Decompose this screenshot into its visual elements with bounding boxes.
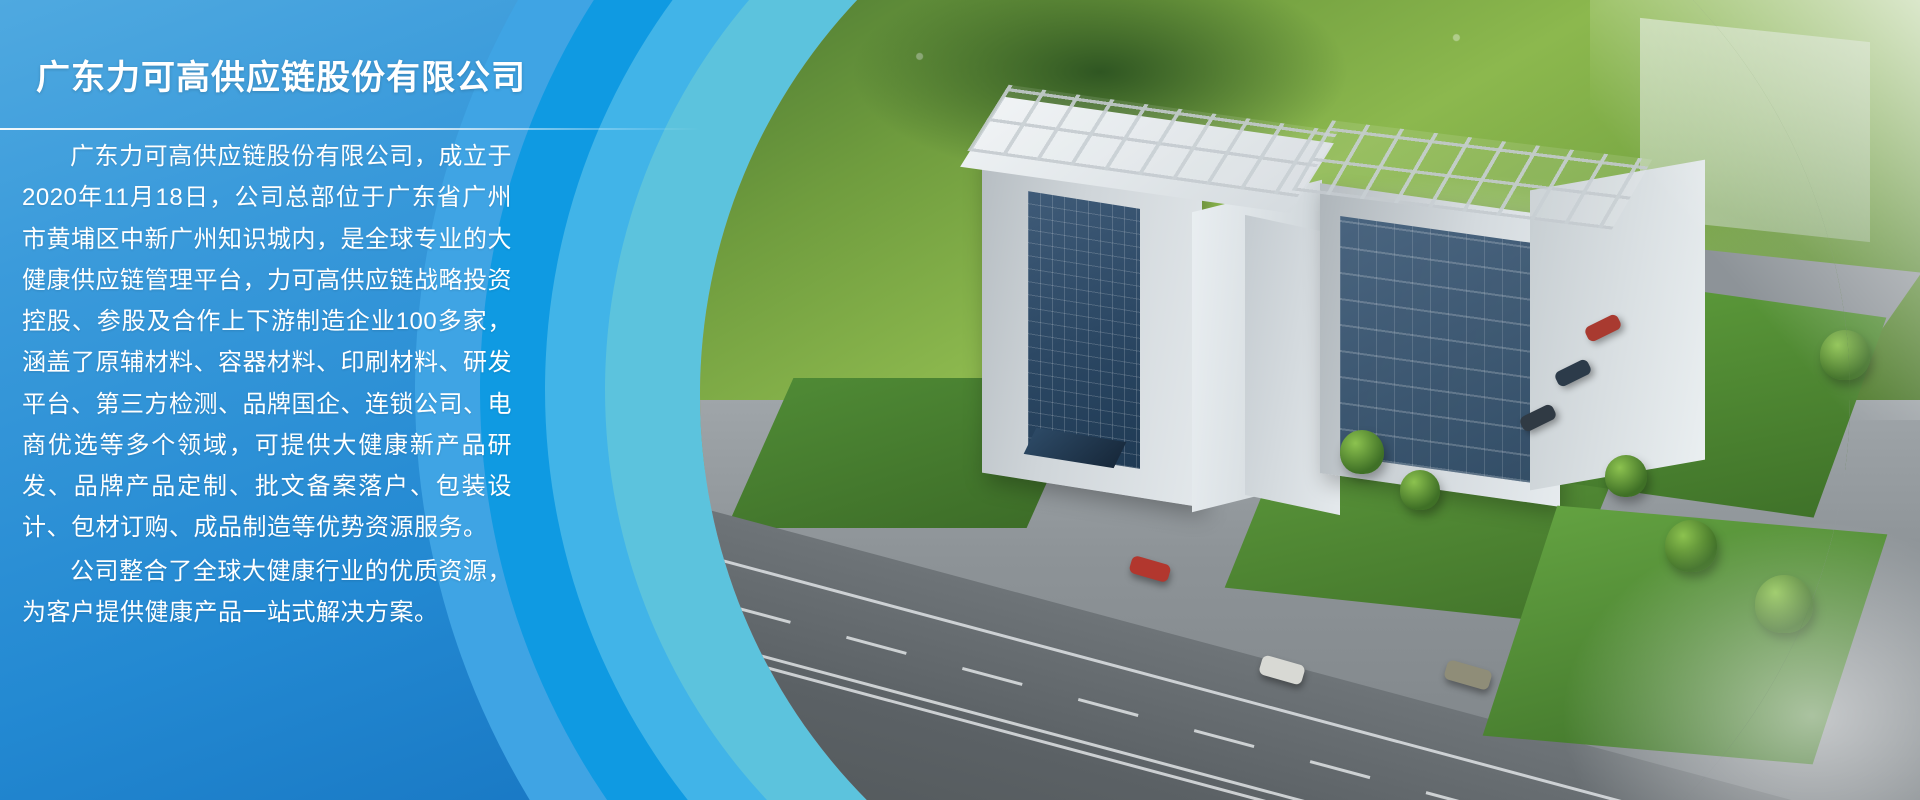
- lane-dash: [1194, 729, 1255, 748]
- street-tree: [1605, 455, 1647, 497]
- atmospheric-haze: [1590, 0, 1850, 420]
- street-tree: [1340, 430, 1384, 474]
- banner-stage: 广东力可高供应链股份有限公司 广东力可高供应链股份有限公司，成立于2020年11…: [0, 0, 1920, 800]
- lane-dash: [1426, 791, 1487, 800]
- campus-photo-disc: [700, 0, 1850, 800]
- title-divider: [0, 128, 700, 130]
- lane-dash: [730, 605, 791, 624]
- intro-text: 广东力可高供应链股份有限公司，成立于2020年11月18日，公司总部位于广东省广…: [22, 136, 512, 635]
- lane-dash: [1078, 698, 1139, 717]
- aerial-campus-render: [700, 0, 1850, 800]
- lane-dash: [846, 636, 907, 655]
- street-tree: [1400, 470, 1440, 510]
- ground-haze: [1560, 520, 1850, 800]
- campus-photo-wrap: [700, 0, 1850, 800]
- intro-paragraph-1: 广东力可高供应链股份有限公司，成立于2020年11月18日，公司总部位于广东省广…: [22, 136, 512, 549]
- intro-paragraph-2: 公司整合了全球大健康行业的优质资源，为客户提供健康产品一站式解决方案。: [22, 551, 512, 634]
- lane-dash: [1310, 760, 1371, 779]
- lane-dash: [962, 667, 1023, 686]
- curtain-wall-front: [1028, 191, 1140, 469]
- intro-panel: 广东力可高供应链股份有限公司 广东力可高供应链股份有限公司，成立于2020年11…: [0, 0, 560, 800]
- page-title: 广东力可高供应链股份有限公司: [36, 50, 526, 99]
